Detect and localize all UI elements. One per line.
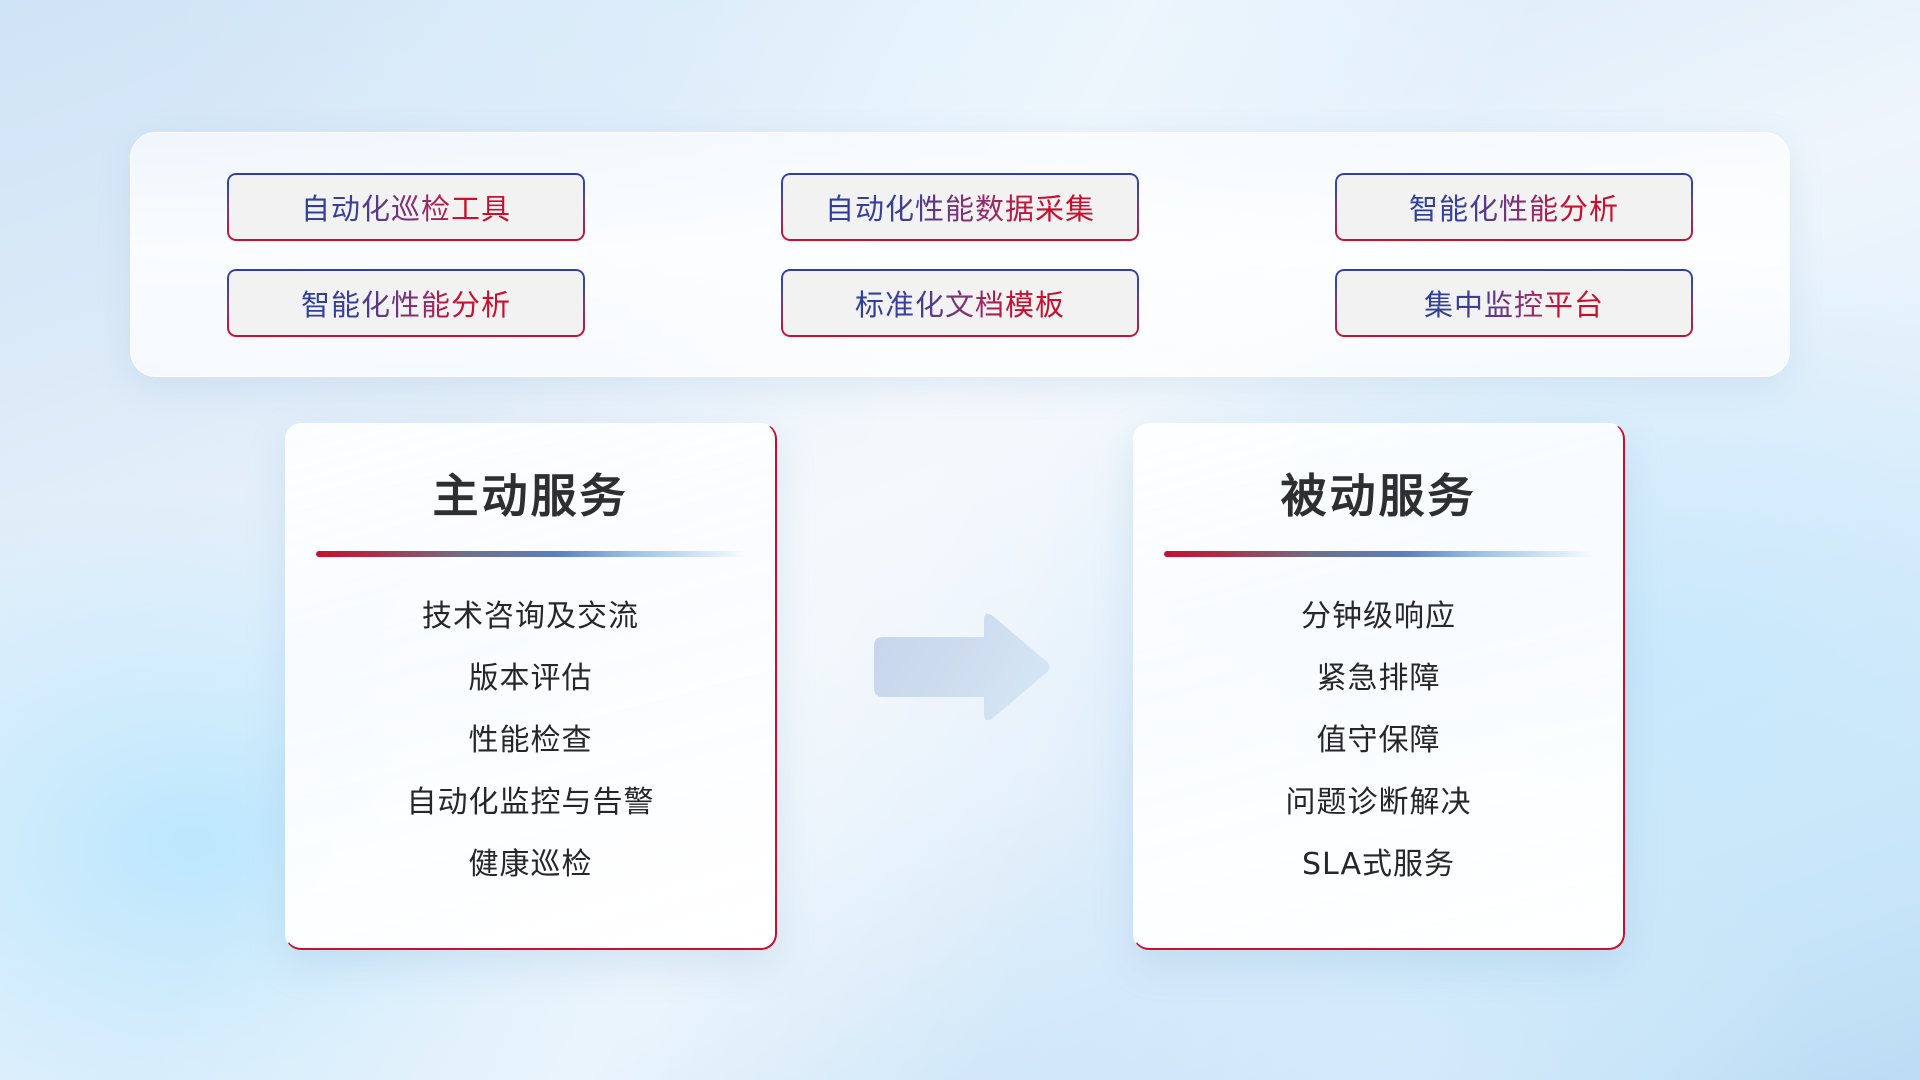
capability-chip-label: 集中监控平台	[1424, 282, 1604, 324]
service-item-list: 技术咨询及交流 版本评估 性能检查 自动化监控与告警 健康巡检	[286, 599, 775, 883]
capability-chip-label: 自动化巡检工具	[301, 186, 511, 228]
capability-panel: 自动化巡检工具 自动化性能数据采集 智能化性能分析 智能化性能分析 标准化文档模…	[130, 132, 1790, 377]
list-item: 健康巡检	[286, 847, 775, 883]
capability-chip-central-monitoring-platform[interactable]: 集中监控平台	[1335, 269, 1693, 337]
capability-row-2: 智能化性能分析 标准化文档模板 集中监控平台	[227, 269, 1693, 337]
list-item: 分钟级响应	[1134, 599, 1623, 635]
list-item: 紧急排障	[1134, 661, 1623, 697]
list-item: 问题诊断解决	[1134, 785, 1623, 821]
title-underline-rule	[316, 551, 746, 557]
capability-chip-auto-inspection-tool[interactable]: 自动化巡检工具	[227, 173, 585, 241]
list-item: SLA式服务	[1134, 847, 1623, 883]
service-card-proactive: 主动服务 技术咨询及交流 版本评估 性能检查 自动化监控与告警 健康巡检	[285, 423, 777, 950]
capability-row-1: 自动化巡检工具 自动化性能数据采集 智能化性能分析	[227, 173, 1693, 241]
title-underline-rule	[1164, 551, 1594, 557]
capability-chip-label: 自动化性能数据采集	[825, 186, 1095, 228]
capability-chip-standard-doc-template[interactable]: 标准化文档模板	[781, 269, 1139, 337]
capability-chip-intelligent-perf-analysis[interactable]: 智能化性能分析	[1335, 173, 1693, 241]
capability-chip-auto-perf-data-collection[interactable]: 自动化性能数据采集	[781, 173, 1139, 241]
capability-chip-label: 智能化性能分析	[1409, 186, 1619, 228]
right-arrow-icon	[866, 608, 1052, 726]
capability-chip-label: 智能化性能分析	[301, 282, 511, 324]
list-item: 性能检查	[286, 723, 775, 759]
capability-chip-intelligent-perf-analysis-2[interactable]: 智能化性能分析	[227, 269, 585, 337]
card-title: 被动服务	[1134, 460, 1623, 526]
list-item: 值守保障	[1134, 723, 1623, 759]
slide-canvas: 自动化巡检工具 自动化性能数据采集 智能化性能分析 智能化性能分析 标准化文档模…	[0, 0, 1920, 1080]
card-title: 主动服务	[286, 460, 775, 526]
list-item: 技术咨询及交流	[286, 599, 775, 635]
list-item: 自动化监控与告警	[286, 785, 775, 821]
list-item: 版本评估	[286, 661, 775, 697]
capability-chip-label: 标准化文档模板	[855, 282, 1065, 324]
service-card-reactive: 被动服务 分钟级响应 紧急排障 值守保障 问题诊断解决 SLA式服务	[1133, 423, 1625, 950]
service-item-list: 分钟级响应 紧急排障 值守保障 问题诊断解决 SLA式服务	[1134, 599, 1623, 883]
